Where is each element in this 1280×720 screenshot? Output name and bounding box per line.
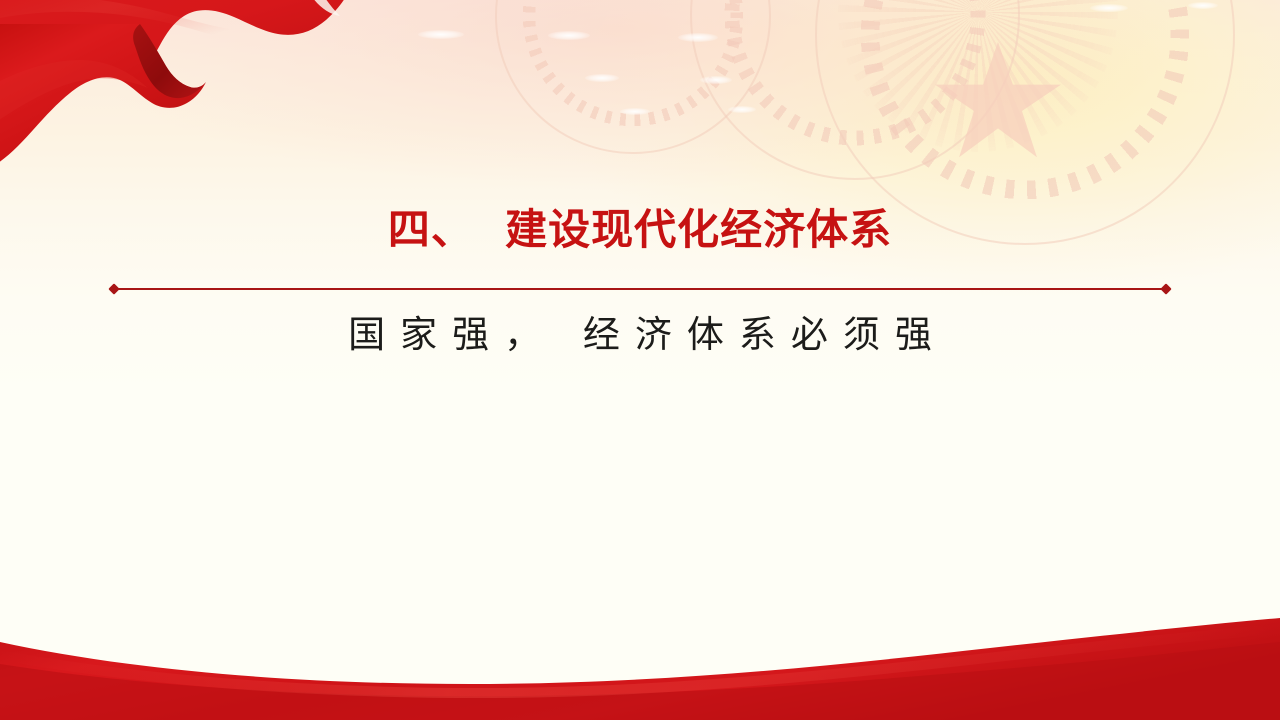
slide-content: 四、 建设现代化经济体系 国家强， 经济体系必须强 bbox=[0, 0, 1280, 720]
divider bbox=[110, 287, 1170, 290]
page-title: 四、 建设现代化经济体系 bbox=[0, 206, 1280, 254]
divider-line bbox=[115, 288, 1165, 290]
slide-canvas: 四、 建设现代化经济体系 国家强， 经济体系必须强 bbox=[0, 0, 1280, 720]
page-subtitle: 国家强， 经济体系必须强 bbox=[0, 312, 1280, 358]
divider-cap-right bbox=[1160, 283, 1171, 294]
